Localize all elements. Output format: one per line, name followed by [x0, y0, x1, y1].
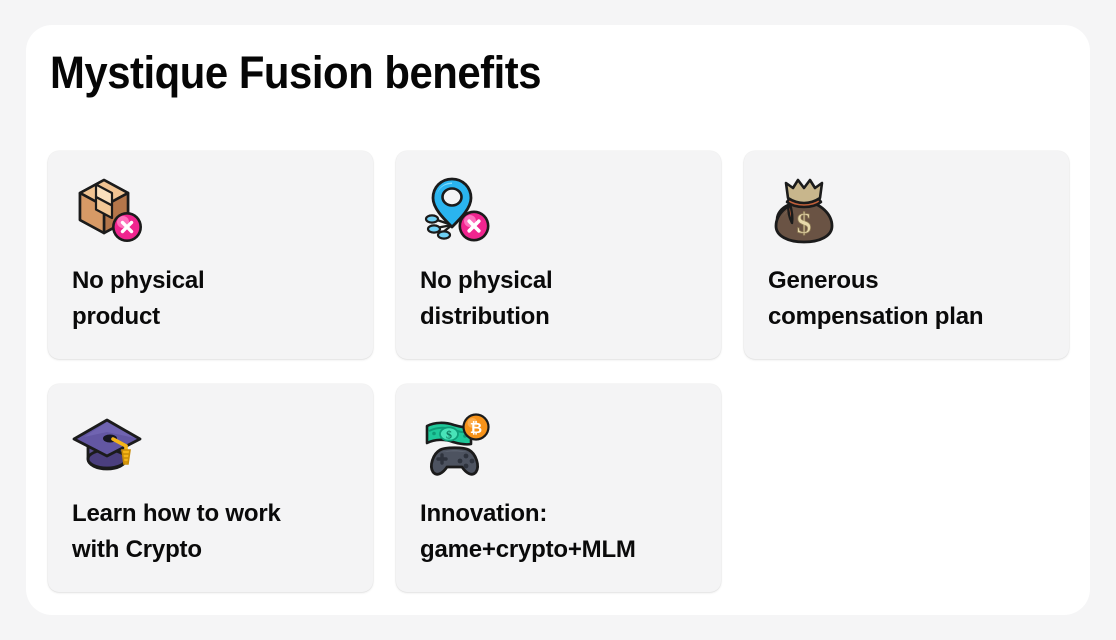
benefit-card-no-physical-product[interactable]: No physical product [48, 151, 373, 359]
benefit-card-generous-compensation-plan[interactable]: $ Generous compensation plan [744, 151, 1069, 359]
benefit-card-label: No physical product [72, 263, 351, 335]
package-box-with-x-badge-icon [72, 175, 144, 247]
benefit-card-no-physical-distribution[interactable]: No physical distribution [396, 151, 721, 359]
graduation-cap-icon [72, 408, 144, 480]
benefit-card-label: No physical distribution [420, 263, 699, 335]
svg-text:₿: ₿ [470, 420, 482, 437]
benefit-card-label: Learn how to work with Crypto [72, 496, 351, 568]
benefit-card-learn-crypto[interactable]: Learn how to work with Crypto [48, 384, 373, 592]
slide-panel: Mystique Fusion benefits [26, 25, 1090, 615]
benefit-card-label: Generous compensation plan [768, 263, 1047, 335]
money-bag-icon: $ [768, 175, 840, 247]
benefit-card-innovation[interactable]: $ ₿ [396, 384, 721, 592]
svg-text:$: $ [797, 207, 812, 240]
svg-text:$: $ [446, 427, 452, 441]
page-title: Mystique Fusion benefits [50, 47, 541, 99]
location-pin-distribution-with-x-badge-icon [420, 175, 492, 247]
benefits-grid: No physical product [48, 151, 1068, 592]
benefit-card-label: Innovation: game+crypto+MLM [420, 496, 699, 568]
money-bitcoin-gamepad-icon: $ ₿ [420, 408, 492, 480]
